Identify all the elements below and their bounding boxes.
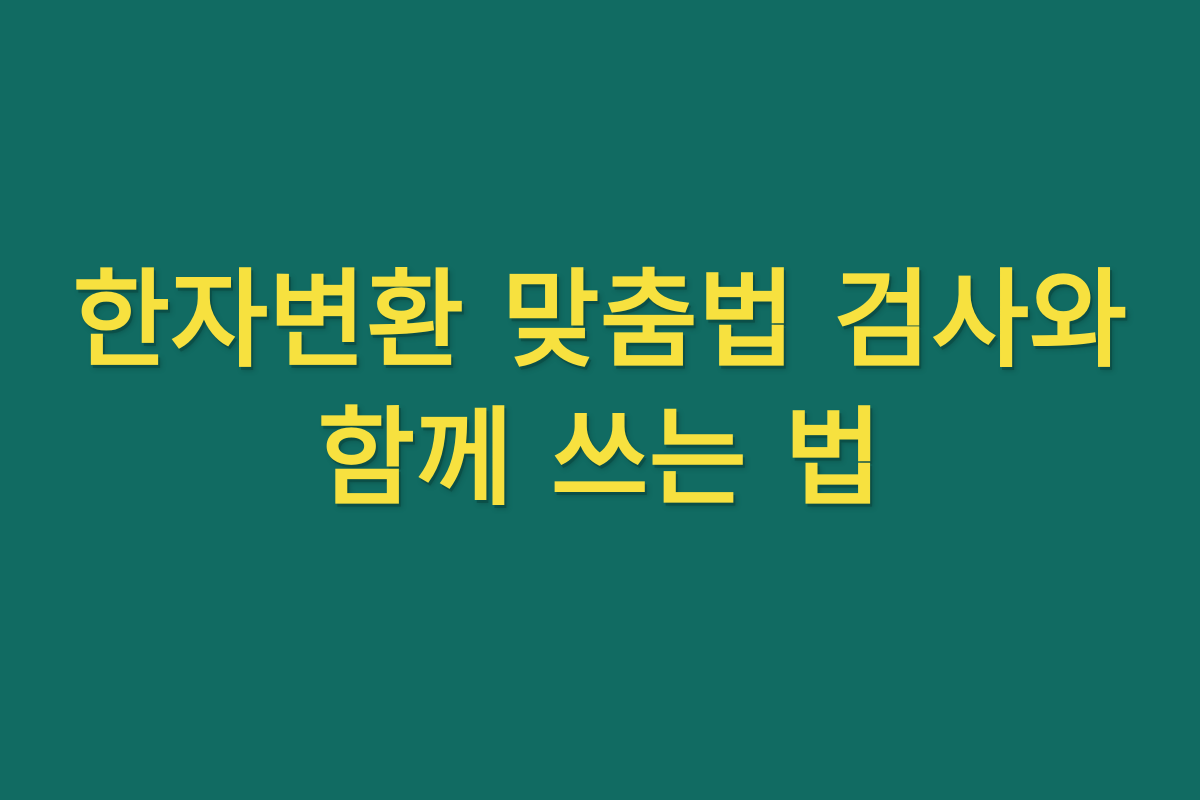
title-line-2: 함께 쓰는 법 (40, 390, 1160, 528)
title-card: 한자변환 맞춤법 검사와 함께 쓰는 법 (0, 0, 1200, 800)
title-line-1: 한자변환 맞춤법 검사와 (40, 252, 1160, 390)
title-block: 한자변환 맞춤법 검사와 함께 쓰는 법 (0, 252, 1200, 528)
